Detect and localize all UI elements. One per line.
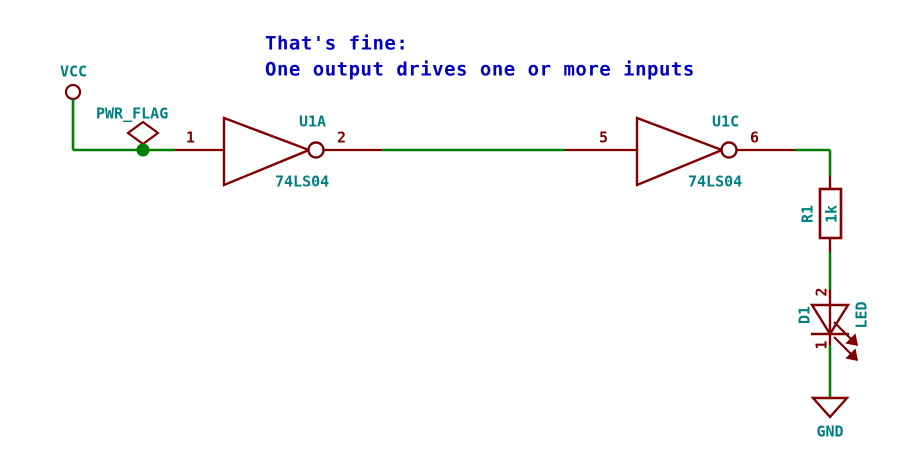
schematic-canvas: That's fine: One output drives one or mo… bbox=[0, 0, 919, 469]
note-line-2: One output drives one or more inputs bbox=[265, 59, 695, 81]
junction-dot-vcc bbox=[137, 144, 149, 156]
gnd-label: GND bbox=[816, 423, 843, 441]
d1-reference-label: D1 bbox=[796, 306, 814, 324]
u1c-value-label: 74LS04 bbox=[688, 173, 742, 191]
r1-reference-label: R1 bbox=[799, 205, 817, 223]
d1-value-label: LED bbox=[853, 301, 871, 328]
r1-value-label: 1k bbox=[823, 205, 841, 223]
component-d1-led[interactable]: D1 LED 2 1 bbox=[796, 287, 871, 360]
u1c-reference-label: U1C bbox=[712, 113, 739, 131]
u1a-value-label: 74LS04 bbox=[275, 173, 329, 191]
component-u1a-inverter[interactable]: U1A 74LS04 bbox=[224, 113, 329, 191]
pwr-flag-symbol[interactable]: PWR_FLAG bbox=[96, 105, 168, 151]
vcc-power-symbol[interactable]: VCC bbox=[60, 63, 87, 151]
u1a-inversion-bubble-icon bbox=[309, 143, 324, 158]
pin-number-u1a-2: 2 bbox=[337, 129, 346, 147]
component-r1-resistor[interactable]: R1 1k bbox=[799, 176, 842, 252]
gnd-power-symbol[interactable]: GND bbox=[813, 398, 847, 441]
component-u1c-inverter[interactable]: U1C 74LS04 bbox=[637, 113, 742, 191]
u1a-reference-label: U1A bbox=[299, 113, 326, 131]
gnd-triangle-icon bbox=[813, 398, 847, 417]
pin-number-u1a-1: 1 bbox=[186, 129, 195, 147]
pin-number-u1c-6: 6 bbox=[750, 129, 759, 147]
d1-pin-number-2: 2 bbox=[813, 287, 831, 296]
u1c-inversion-bubble-icon bbox=[722, 143, 737, 158]
pwr-flag-diamond-icon bbox=[128, 122, 158, 144]
vcc-circle-icon bbox=[66, 85, 80, 99]
vcc-label: VCC bbox=[60, 63, 87, 81]
pin-number-u1c-5: 5 bbox=[599, 129, 608, 147]
note-line-1: That's fine: bbox=[265, 33, 408, 55]
d1-pin-number-1: 1 bbox=[813, 340, 831, 349]
pwr-flag-label: PWR_FLAG bbox=[96, 105, 168, 123]
